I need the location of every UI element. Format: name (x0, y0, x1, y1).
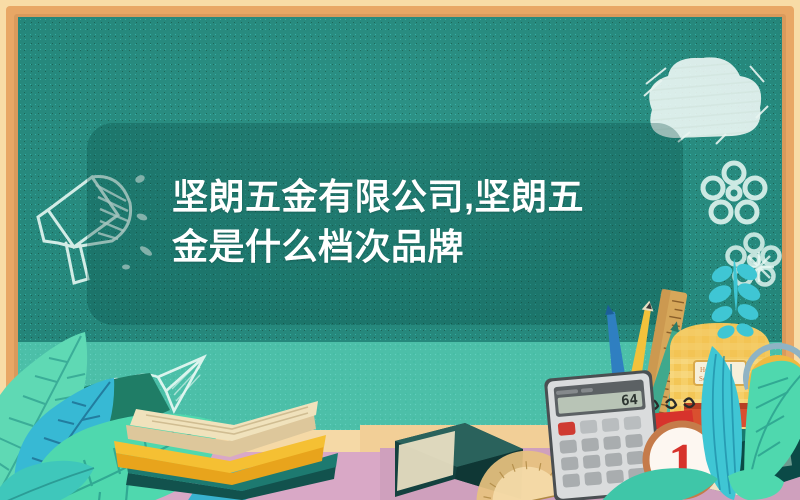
leaf-decoration-small (0, 448, 100, 500)
page-title-line-1: 坚朗五金有限公司,坚朗五 (172, 172, 622, 222)
leaf-decoration-bottom-right (600, 455, 720, 500)
flower-icon (700, 160, 768, 228)
calculator-display-value: 64 (620, 392, 638, 409)
page-title-line-2: 金是什么档次品牌 (172, 222, 622, 272)
page-title: 坚朗五金有限公司,坚朗五 金是什么档次品牌 (172, 172, 622, 272)
book-stack (110, 395, 340, 500)
banner-canvas: 坚朗五金有限公司,坚朗五 金是什么档次品牌 (0, 0, 800, 500)
